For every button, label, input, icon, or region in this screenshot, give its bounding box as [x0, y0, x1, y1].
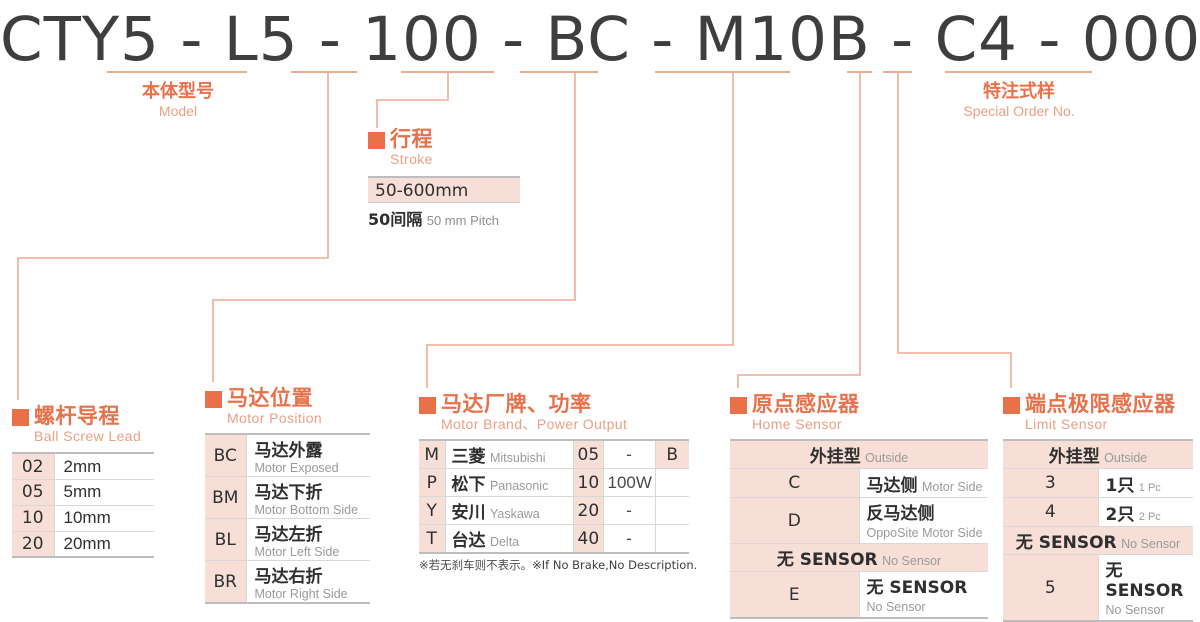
home-sensor-header: 外挂型 Outside — [730, 440, 988, 469]
row-value-en: No Sensor — [867, 600, 926, 614]
table-subheader-row: 无 SENSOR No Sensor — [730, 544, 988, 572]
row-brand-name: 台达 Delta — [445, 525, 573, 554]
row-power: - — [603, 440, 655, 469]
limit-sensor-title-en: Limit Sensor — [1003, 417, 1193, 432]
group-stroke: 行程 Stroke 50-600mm 50间隔 50 mm Pitch — [368, 128, 520, 230]
row-code: D — [730, 498, 859, 544]
row-brand-en: Yaskawa — [490, 507, 540, 521]
row-brand-name: 松下 Panasonic — [445, 469, 573, 497]
table-row: 4 2只 2 Pc — [1003, 498, 1193, 527]
header-en: Outside — [865, 451, 908, 465]
motor-brand-footnote: ※若无刹车则不表示。※If No Brake,No Description. — [419, 557, 697, 573]
row-brand-cn: 三菱 — [452, 447, 486, 467]
row-value-en: 1 Pc — [1139, 482, 1161, 494]
group-limit-sensor: 端点极限感应器 Limit Sensor 外挂型 Outside 3 1只 1 … — [1003, 393, 1193, 622]
motor-position-title-cn: 马达位置 — [227, 387, 313, 409]
group-home-sensor: 原点感应器 Home Sensor 外挂型 Outside C 马达侧 Moto… — [730, 393, 988, 619]
row-code: 02 — [12, 453, 54, 479]
subheader-cn: 无 SENSOR — [1016, 533, 1117, 553]
stroke-pitch-cn: 50间隔 — [368, 210, 422, 229]
footnote-cn: ※若无刹车则不表示。 — [419, 558, 532, 572]
row-value: 2只 2 Pc — [1098, 498, 1193, 527]
motor-position-marker-icon — [205, 391, 222, 408]
table-row: BM 马达下折 Motor Bottom Side — [205, 477, 370, 519]
row-value-cn: 无 SENSOR — [1106, 561, 1184, 601]
header-cn: 外挂型 — [810, 447, 861, 467]
motor-brand-title-en: Motor Brand、Power Output — [419, 417, 697, 432]
row-value-cn: 无 SENSOR — [867, 578, 968, 598]
row-brand-cn: 台达 — [452, 531, 486, 551]
group-motor-brand: 马达厂牌、功率 Motor Brand、Power Output M 三菱 Mi… — [419, 393, 697, 573]
row-power-code: 20 — [573, 497, 603, 525]
row-code: E — [730, 572, 859, 619]
row-value-cn: 马达外露 — [255, 436, 367, 461]
home-sensor-marker-icon — [730, 397, 747, 414]
special-order-title-en: Special Order No. — [945, 103, 1093, 120]
row-brand-en: Delta — [490, 535, 519, 549]
group-motor-position: 马达位置 Motor Position BC 马达外露 Motor Expose… — [205, 387, 370, 604]
home-sensor-subheader: 无 SENSOR No Sensor — [730, 544, 988, 572]
row-value: 2mm — [54, 453, 154, 479]
row-brand-code: Y — [419, 497, 445, 525]
row-brand-en: Panasonic — [490, 479, 548, 493]
row-code: 5 — [1003, 555, 1098, 622]
row-value-cn: 反马达侧 — [867, 504, 935, 524]
row-brand-code: M — [419, 440, 445, 469]
row-value-en: Motor Exposed — [255, 461, 367, 475]
table-row: 20 20mm — [12, 531, 154, 557]
row-brake — [655, 469, 689, 497]
header-cn: 外挂型 — [1049, 447, 1100, 467]
table-subheader-row: 无 SENSOR No Sensor — [1003, 527, 1193, 555]
row-value: 20mm — [54, 531, 154, 557]
special-order-title-cn: 特注式样 — [945, 82, 1093, 102]
header-en: Outside — [1104, 451, 1147, 465]
subheader-en: No Sensor — [882, 554, 941, 568]
row-value: 马达左折 Motor Left Side — [246, 519, 370, 561]
row-value-en: Motor Bottom Side — [255, 503, 367, 517]
row-value: 马达外露 Motor Exposed — [246, 434, 370, 477]
row-value-cn: 马达左折 — [255, 520, 367, 545]
row-brand-code: T — [419, 525, 445, 554]
group-ball-screw-lead: 螺杆导程 Ball Screw Lead 02 2mm 05 5mm 10 10… — [12, 405, 154, 558]
table-row: E 无 SENSOR No Sensor — [730, 572, 988, 619]
group-model: 本体型号 Model — [107, 82, 249, 120]
row-power-code: 05 — [573, 440, 603, 469]
table-row: P 松下 Panasonic 10 100W — [419, 469, 689, 497]
table-row: M 三菱 Mitsubishi 05 - B — [419, 440, 689, 469]
limit-sensor-marker-icon — [1003, 397, 1020, 414]
row-power: - — [603, 525, 655, 554]
row-value-en: Motor Right Side — [255, 587, 367, 601]
limit-sensor-header: 外挂型 Outside — [1003, 440, 1193, 469]
row-brand-code: P — [419, 469, 445, 497]
row-value-cn: 2只 — [1106, 505, 1135, 525]
row-code: BC — [205, 434, 246, 477]
row-brand-name: 三菱 Mitsubishi — [445, 440, 573, 469]
table-row: 02 2mm — [12, 453, 154, 479]
row-value-en: No Sensor — [1106, 603, 1165, 617]
stroke-marker-icon — [368, 132, 385, 149]
subheader-cn: 无 SENSOR — [777, 550, 878, 570]
row-code: 3 — [1003, 469, 1098, 498]
row-value: 马达下折 Motor Bottom Side — [246, 477, 370, 519]
ball-screw-lead-marker-icon — [12, 409, 29, 426]
stroke-range-value: 50-600mm — [368, 176, 520, 203]
motor-brand-title-cn: 马达厂牌、功率 — [441, 393, 592, 415]
limit-sensor-subheader: 无 SENSOR No Sensor — [1003, 527, 1193, 555]
row-brand-cn: 安川 — [452, 503, 486, 523]
footnote-en: ※If No Brake,No Description. — [532, 558, 697, 572]
home-sensor-title-cn: 原点感应器 — [752, 393, 860, 415]
row-value-en: OppoSite Motor Side — [867, 526, 983, 540]
table-row: 5 无 SENSOR No Sensor — [1003, 555, 1193, 622]
home-sensor-table: 外挂型 Outside C 马达侧 Motor Side D 反马达侧 Oppo — [730, 439, 988, 619]
row-value-en: Motor Side — [922, 480, 982, 494]
row-power: - — [603, 497, 655, 525]
row-brand-en: Mitsubishi — [490, 451, 546, 465]
row-value-cn: 1只 — [1106, 476, 1135, 496]
motor-position-table: BC 马达外露 Motor Exposed BM 马达下折 Motor Bott… — [205, 433, 370, 604]
table-row: BL 马达左折 Motor Left Side — [205, 519, 370, 561]
table-row: Y 安川 Yaskawa 20 - — [419, 497, 689, 525]
row-code: 05 — [12, 479, 54, 505]
row-code: 20 — [12, 531, 54, 557]
table-row: 3 1只 1 Pc — [1003, 469, 1193, 498]
row-value: 马达右折 Motor Right Side — [246, 561, 370, 604]
row-value: 无 SENSOR No Sensor — [859, 572, 988, 619]
row-value-cn: 马达下折 — [255, 478, 367, 503]
row-value: 反马达侧 OppoSite Motor Side — [859, 498, 988, 544]
motor-position-title-en: Motor Position — [205, 411, 370, 426]
table-header-row: 外挂型 Outside — [1003, 440, 1193, 469]
group-special-order: 特注式样 Special Order No. — [945, 82, 1093, 120]
table-row: BC 马达外露 Motor Exposed — [205, 434, 370, 477]
row-code: BR — [205, 561, 246, 604]
row-value: 1只 1 Pc — [1098, 469, 1193, 498]
limit-sensor-title-cn: 端点极限感应器 — [1025, 393, 1176, 415]
row-value: 无 SENSOR No Sensor — [1098, 555, 1193, 622]
row-value: 马达侧 Motor Side — [859, 469, 988, 498]
ball-screw-lead-title-en: Ball Screw Lead — [12, 429, 154, 444]
row-code: C — [730, 469, 859, 498]
row-power: 100W — [603, 469, 655, 497]
row-code: 4 — [1003, 498, 1098, 527]
row-code: BM — [205, 477, 246, 519]
row-power-code: 10 — [573, 469, 603, 497]
motor-brand-marker-icon — [419, 397, 436, 414]
limit-sensor-table: 外挂型 Outside 3 1只 1 Pc 4 2只 2 Pc — [1003, 439, 1193, 622]
row-value: 5mm — [54, 479, 154, 505]
table-row: 10 10mm — [12, 505, 154, 531]
ball-screw-lead-table: 02 2mm 05 5mm 10 10mm 20 20mm — [12, 452, 154, 558]
row-value: 10mm — [54, 505, 154, 531]
row-value-cn: 马达侧 — [867, 476, 918, 496]
table-row: D 反马达侧 OppoSite Motor Side — [730, 498, 988, 544]
table-row: C 马达侧 Motor Side — [730, 469, 988, 498]
row-code: 10 — [12, 505, 54, 531]
subheader-en: No Sensor — [1121, 537, 1180, 551]
stroke-pitch-en: 50 mm Pitch — [427, 213, 499, 228]
row-brake: B — [655, 440, 689, 469]
table-header-row: 外挂型 Outside — [730, 440, 988, 469]
row-brake — [655, 525, 689, 554]
row-value-en: 2 Pc — [1139, 511, 1161, 523]
stroke-title-en: Stroke — [368, 152, 520, 167]
motor-brand-table: M 三菱 Mitsubishi 05 - B P 松下 Panasonic 10 — [419, 439, 689, 554]
model-title-cn: 本体型号 — [107, 82, 249, 102]
table-row: BR 马达右折 Motor Right Side — [205, 561, 370, 604]
row-value-en: Motor Left Side — [255, 545, 367, 559]
home-sensor-title-en: Home Sensor — [730, 417, 988, 432]
row-brand-cn: 松下 — [452, 475, 486, 495]
row-power-code: 40 — [573, 525, 603, 554]
stroke-pitch: 50间隔 50 mm Pitch — [368, 206, 520, 230]
row-brake — [655, 497, 689, 525]
row-code: BL — [205, 519, 246, 561]
ball-screw-lead-title-cn: 螺杆导程 — [34, 405, 120, 427]
model-title-en: Model — [107, 103, 249, 120]
stroke-title-cn: 行程 — [390, 128, 433, 150]
table-row: T 台达 Delta 40 - — [419, 525, 689, 554]
table-row: 05 5mm — [12, 479, 154, 505]
diagram-canvas: CTY5 - L5 - 100 - BC - M10B - C4 - 0001 — [0, 0, 1200, 575]
row-brand-name: 安川 Yaskawa — [445, 497, 573, 525]
